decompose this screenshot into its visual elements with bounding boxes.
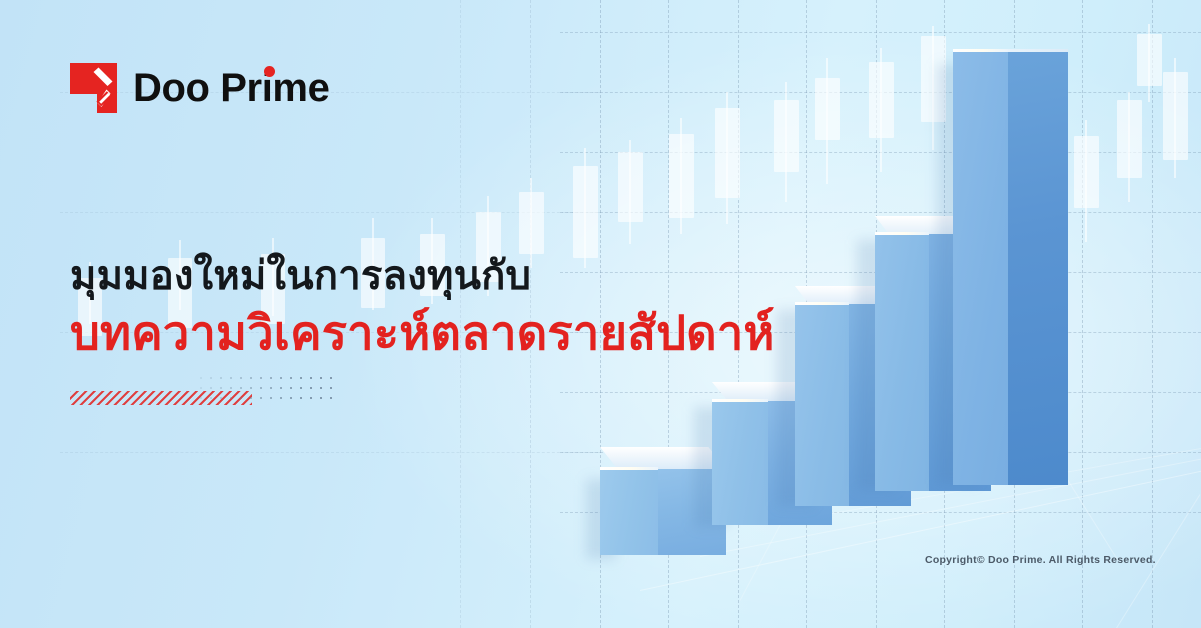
grid-line-horizontal xyxy=(560,32,1201,33)
candle-body xyxy=(715,108,740,198)
candle-body xyxy=(618,152,643,222)
candle-body xyxy=(669,134,694,218)
grid-line-horizontal xyxy=(60,452,600,453)
banner-canvas: Doo Prime มุมมองใหม่ในการลงทุนกับ บทความ… xyxy=(0,0,1201,628)
candle-body xyxy=(573,166,598,258)
bar-top-highlight xyxy=(875,232,929,235)
headline-line-2: บทความวิเคราะห์ตลาดรายสัปดาห์ xyxy=(70,304,830,362)
dot-pattern-decoration xyxy=(196,373,336,407)
candle-body xyxy=(1163,72,1188,160)
candle-body xyxy=(1137,34,1162,86)
bar-front-face xyxy=(795,304,849,506)
candle-body xyxy=(1074,136,1099,208)
bar-front-face xyxy=(600,469,658,555)
bar-top-highlight xyxy=(953,49,1008,52)
doo-prime-logo-mark xyxy=(70,63,117,113)
logo-wordmark-text: Doo Prime xyxy=(133,66,329,110)
logo-wordmark: Doo Prime xyxy=(133,68,329,108)
bar-top-highlight xyxy=(795,302,849,305)
candle-body xyxy=(774,100,799,172)
headline-line-1: มุมมองใหม่ในการลงทุนกับ xyxy=(70,252,830,302)
candle-body xyxy=(1117,100,1142,178)
bar-front-face xyxy=(953,52,1008,485)
copyright-text: Copyright© Doo Prime. All Rights Reserve… xyxy=(925,554,1156,566)
grid-line-vertical xyxy=(1152,0,1153,628)
grid-line-horizontal xyxy=(560,212,1201,213)
bar-5 xyxy=(953,52,1068,485)
bar-side-face xyxy=(1008,52,1068,485)
bar-top-highlight xyxy=(712,399,768,402)
candle-body xyxy=(519,192,544,254)
candle-body xyxy=(815,78,840,140)
headline-block: มุมมองใหม่ในการลงทุนกับ บทความวิเคราะห์ต… xyxy=(70,252,830,362)
logo-mark-icon xyxy=(70,63,117,113)
bar-top-highlight xyxy=(1008,49,1068,52)
grid-line-vertical xyxy=(1082,0,1083,628)
brand-logo[interactable]: Doo Prime xyxy=(70,63,329,113)
bar-top-highlight xyxy=(600,467,658,470)
bar-front-face xyxy=(875,234,929,491)
bar-front-face xyxy=(712,401,768,525)
logo-i-dot-icon xyxy=(264,66,275,77)
candle-body xyxy=(869,62,894,138)
